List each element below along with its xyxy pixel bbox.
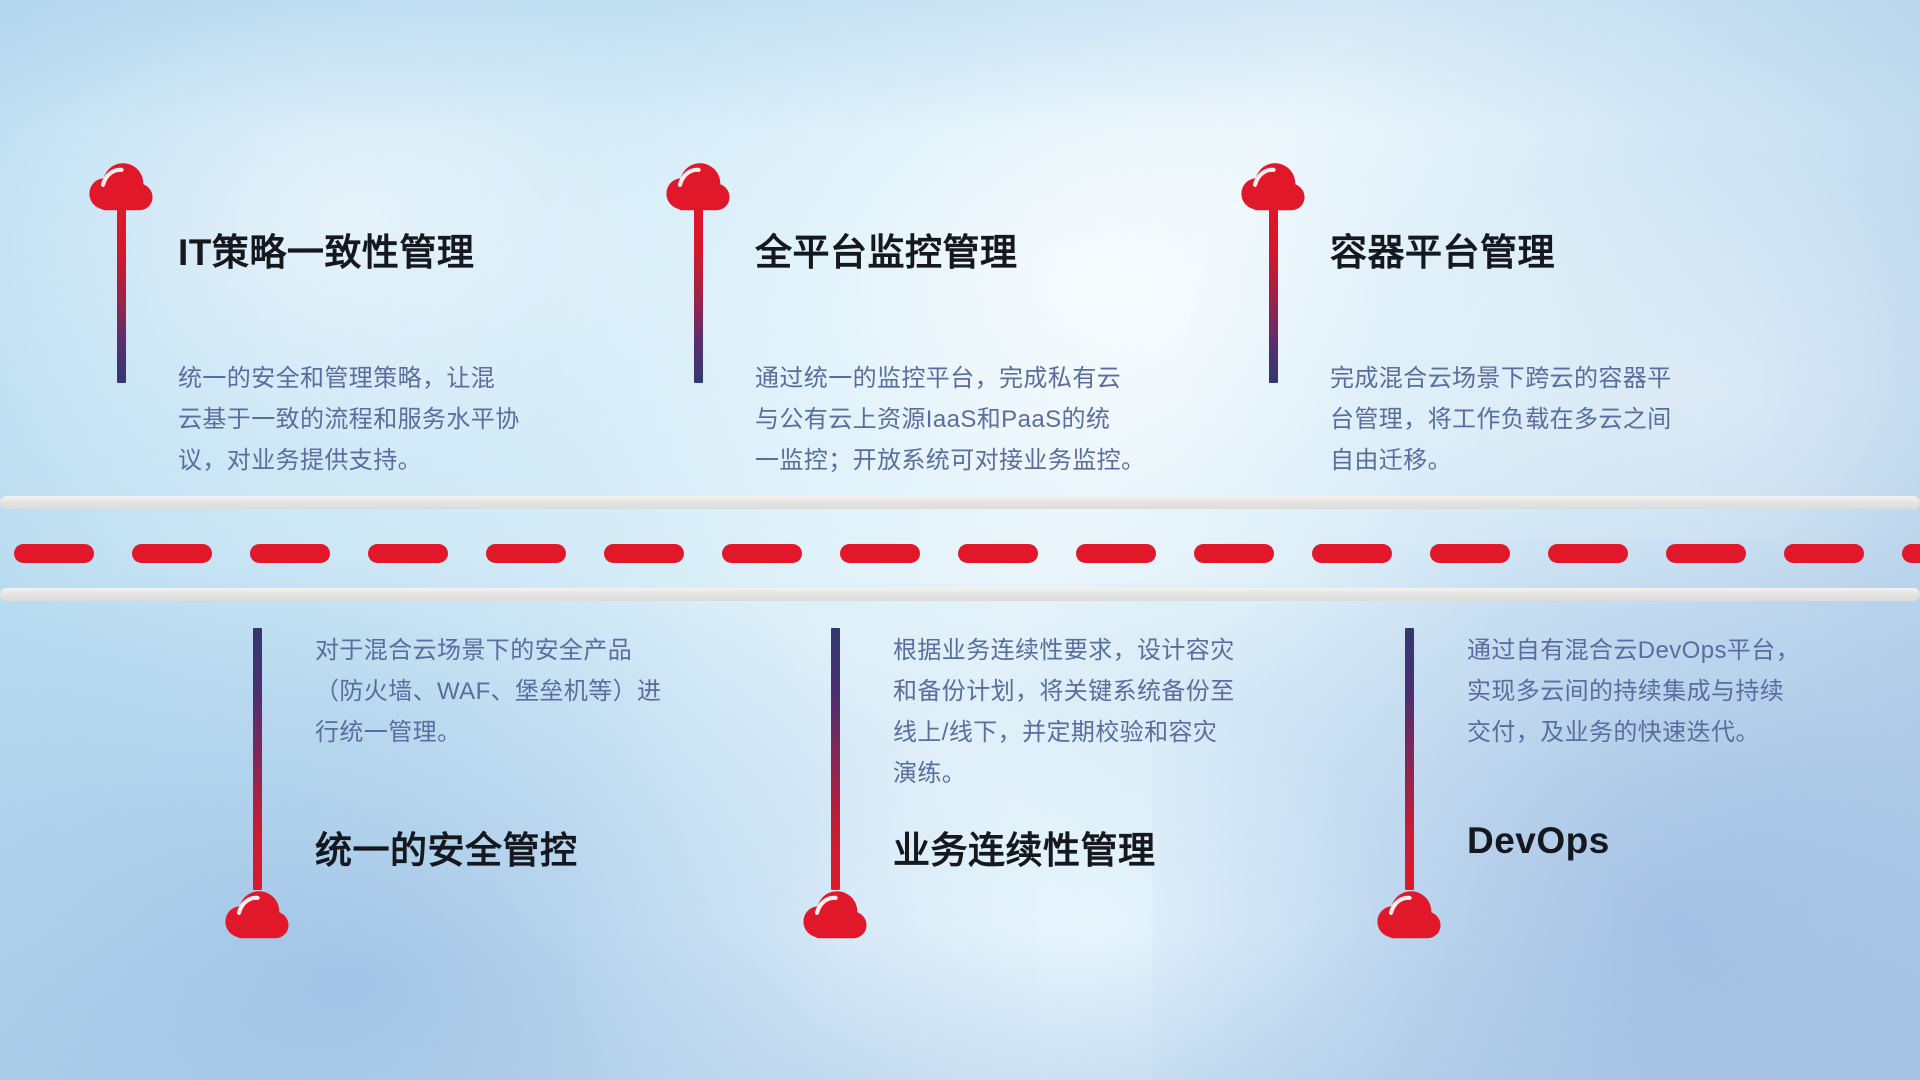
road-dash [1666, 544, 1746, 563]
road-dash [722, 544, 802, 563]
cloud-pin-icon [802, 888, 868, 940]
road-dash [14, 544, 94, 563]
milestone-stem [1269, 205, 1278, 383]
road-dash [1902, 544, 1920, 563]
cloud-pin-icon [224, 888, 290, 940]
milestone-description: 对于混合云场景下的安全产品 （防火墙、WAF、堡垒机等）进 行统一管理。 [315, 630, 745, 753]
road-dash [1194, 544, 1274, 563]
cloud-pin-icon [1376, 888, 1442, 940]
milestone-title: 容器平台管理 [1330, 222, 1555, 276]
milestone-description: 通过自有混合云DevOps平台， 实现多云间的持续集成与持续 交付，及业务的快速… [1467, 630, 1897, 753]
milestone-title: 统一的安全管控 [315, 820, 578, 874]
road-dash [1430, 544, 1510, 563]
road-rail-top [0, 496, 1920, 509]
milestone-title: 业务连续性管理 [893, 820, 1156, 874]
milestone-description: 完成混合云场景下跨云的容器平 台管理，将工作负载在多云之间 自由迁移。 [1330, 358, 1760, 481]
milestone-stem [253, 628, 262, 890]
road-dash [486, 544, 566, 563]
road-dash [840, 544, 920, 563]
milestone-description: 统一的安全和管理策略，让混 云基于一致的流程和服务水平协 议，对业务提供支持。 [178, 358, 608, 481]
infographic-canvas: IT策略一致性管理 统一的安全和管理策略，让混 云基于一致的流程和服务水平协 议… [0, 0, 1920, 1080]
road-dash [1548, 544, 1628, 563]
road-dash [250, 544, 330, 563]
milestone-description: 根据业务连续性要求，设计容灾 和备份计划，将关键系统备份至 线上/线下，并定期校… [893, 630, 1323, 794]
road-dash-line [0, 543, 1920, 563]
milestone-stem [694, 205, 703, 383]
milestone-stem [831, 628, 840, 890]
road-rail-bottom [0, 588, 1920, 601]
road-dash [368, 544, 448, 563]
road-dash [132, 544, 212, 563]
road-dash [1784, 544, 1864, 563]
milestone-title: IT策略一致性管理 [178, 222, 474, 276]
road-dash [1312, 544, 1392, 563]
milestone-title: 全平台监控管理 [755, 222, 1018, 276]
milestone-stem [117, 205, 126, 383]
milestone-description: 通过统一的监控平台，完成私有云 与公有云上资源IaaS和PaaS的统 一监控；开… [755, 358, 1185, 481]
road-dash [604, 544, 684, 563]
road-dash [1076, 544, 1156, 563]
milestone-title: DevOps [1467, 820, 1610, 862]
milestone-stem [1405, 628, 1414, 890]
road-dash [958, 544, 1038, 563]
